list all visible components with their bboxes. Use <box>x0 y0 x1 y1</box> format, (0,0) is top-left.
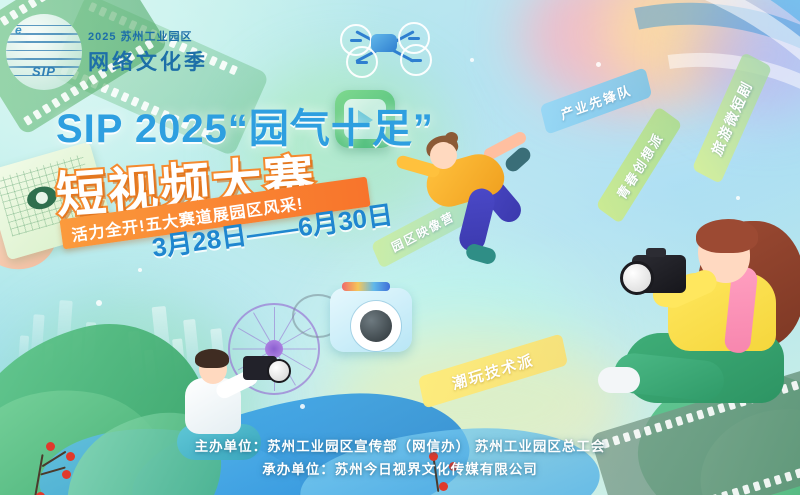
credits-block: 主办单位：苏州工业园区宣传部（网信办） 苏州工业园区总工会 承办单位：苏州今日视… <box>0 436 800 481</box>
track-label-youth-creative: 青春创想派 <box>596 106 683 224</box>
sip-network-culture-season-logo: e SIP 2025 苏州工业园区 网络文化季 <box>6 14 266 98</box>
credits-organizer: 主办单位：苏州工业园区宣传部（网信办） 苏州工业园区总工会 <box>0 436 800 458</box>
poster-canvas: e SIP 2025 苏州工业园区 网络文化季 SIP 2025“园气十足” 短… <box>0 0 800 495</box>
city-skyline-back <box>17 297 97 380</box>
running-person-illustration <box>404 128 564 278</box>
track-label-text: 潮玩技术派 <box>450 348 536 393</box>
credits-host: 承办单位：苏州今日视界文化传媒有限公司 <box>0 459 800 481</box>
track-label-text: 产业先锋队 <box>558 79 633 123</box>
track-label-text: 青春创想派 <box>611 128 666 203</box>
camera-icon <box>330 288 412 352</box>
logo-title: 网络文化季 <box>88 46 208 76</box>
female-photographer-illustration <box>610 215 800 415</box>
globe-emblem-icon: e SIP <box>6 14 82 90</box>
track-label-tourism-microdrama: 旅游微短剧 <box>692 52 772 184</box>
track-label-industry-pioneer: 产业先锋队 <box>540 67 653 135</box>
track-label-text: 旅游微短剧 <box>707 77 757 159</box>
emblem-mark: e <box>15 23 22 37</box>
track-label-trendy-tech: 潮玩技术派 <box>418 333 568 408</box>
emblem-sip-text: SIP <box>6 64 82 79</box>
drone-icon <box>340 22 430 74</box>
logo-subtitle: 2025 苏州工业园区 <box>88 28 208 44</box>
